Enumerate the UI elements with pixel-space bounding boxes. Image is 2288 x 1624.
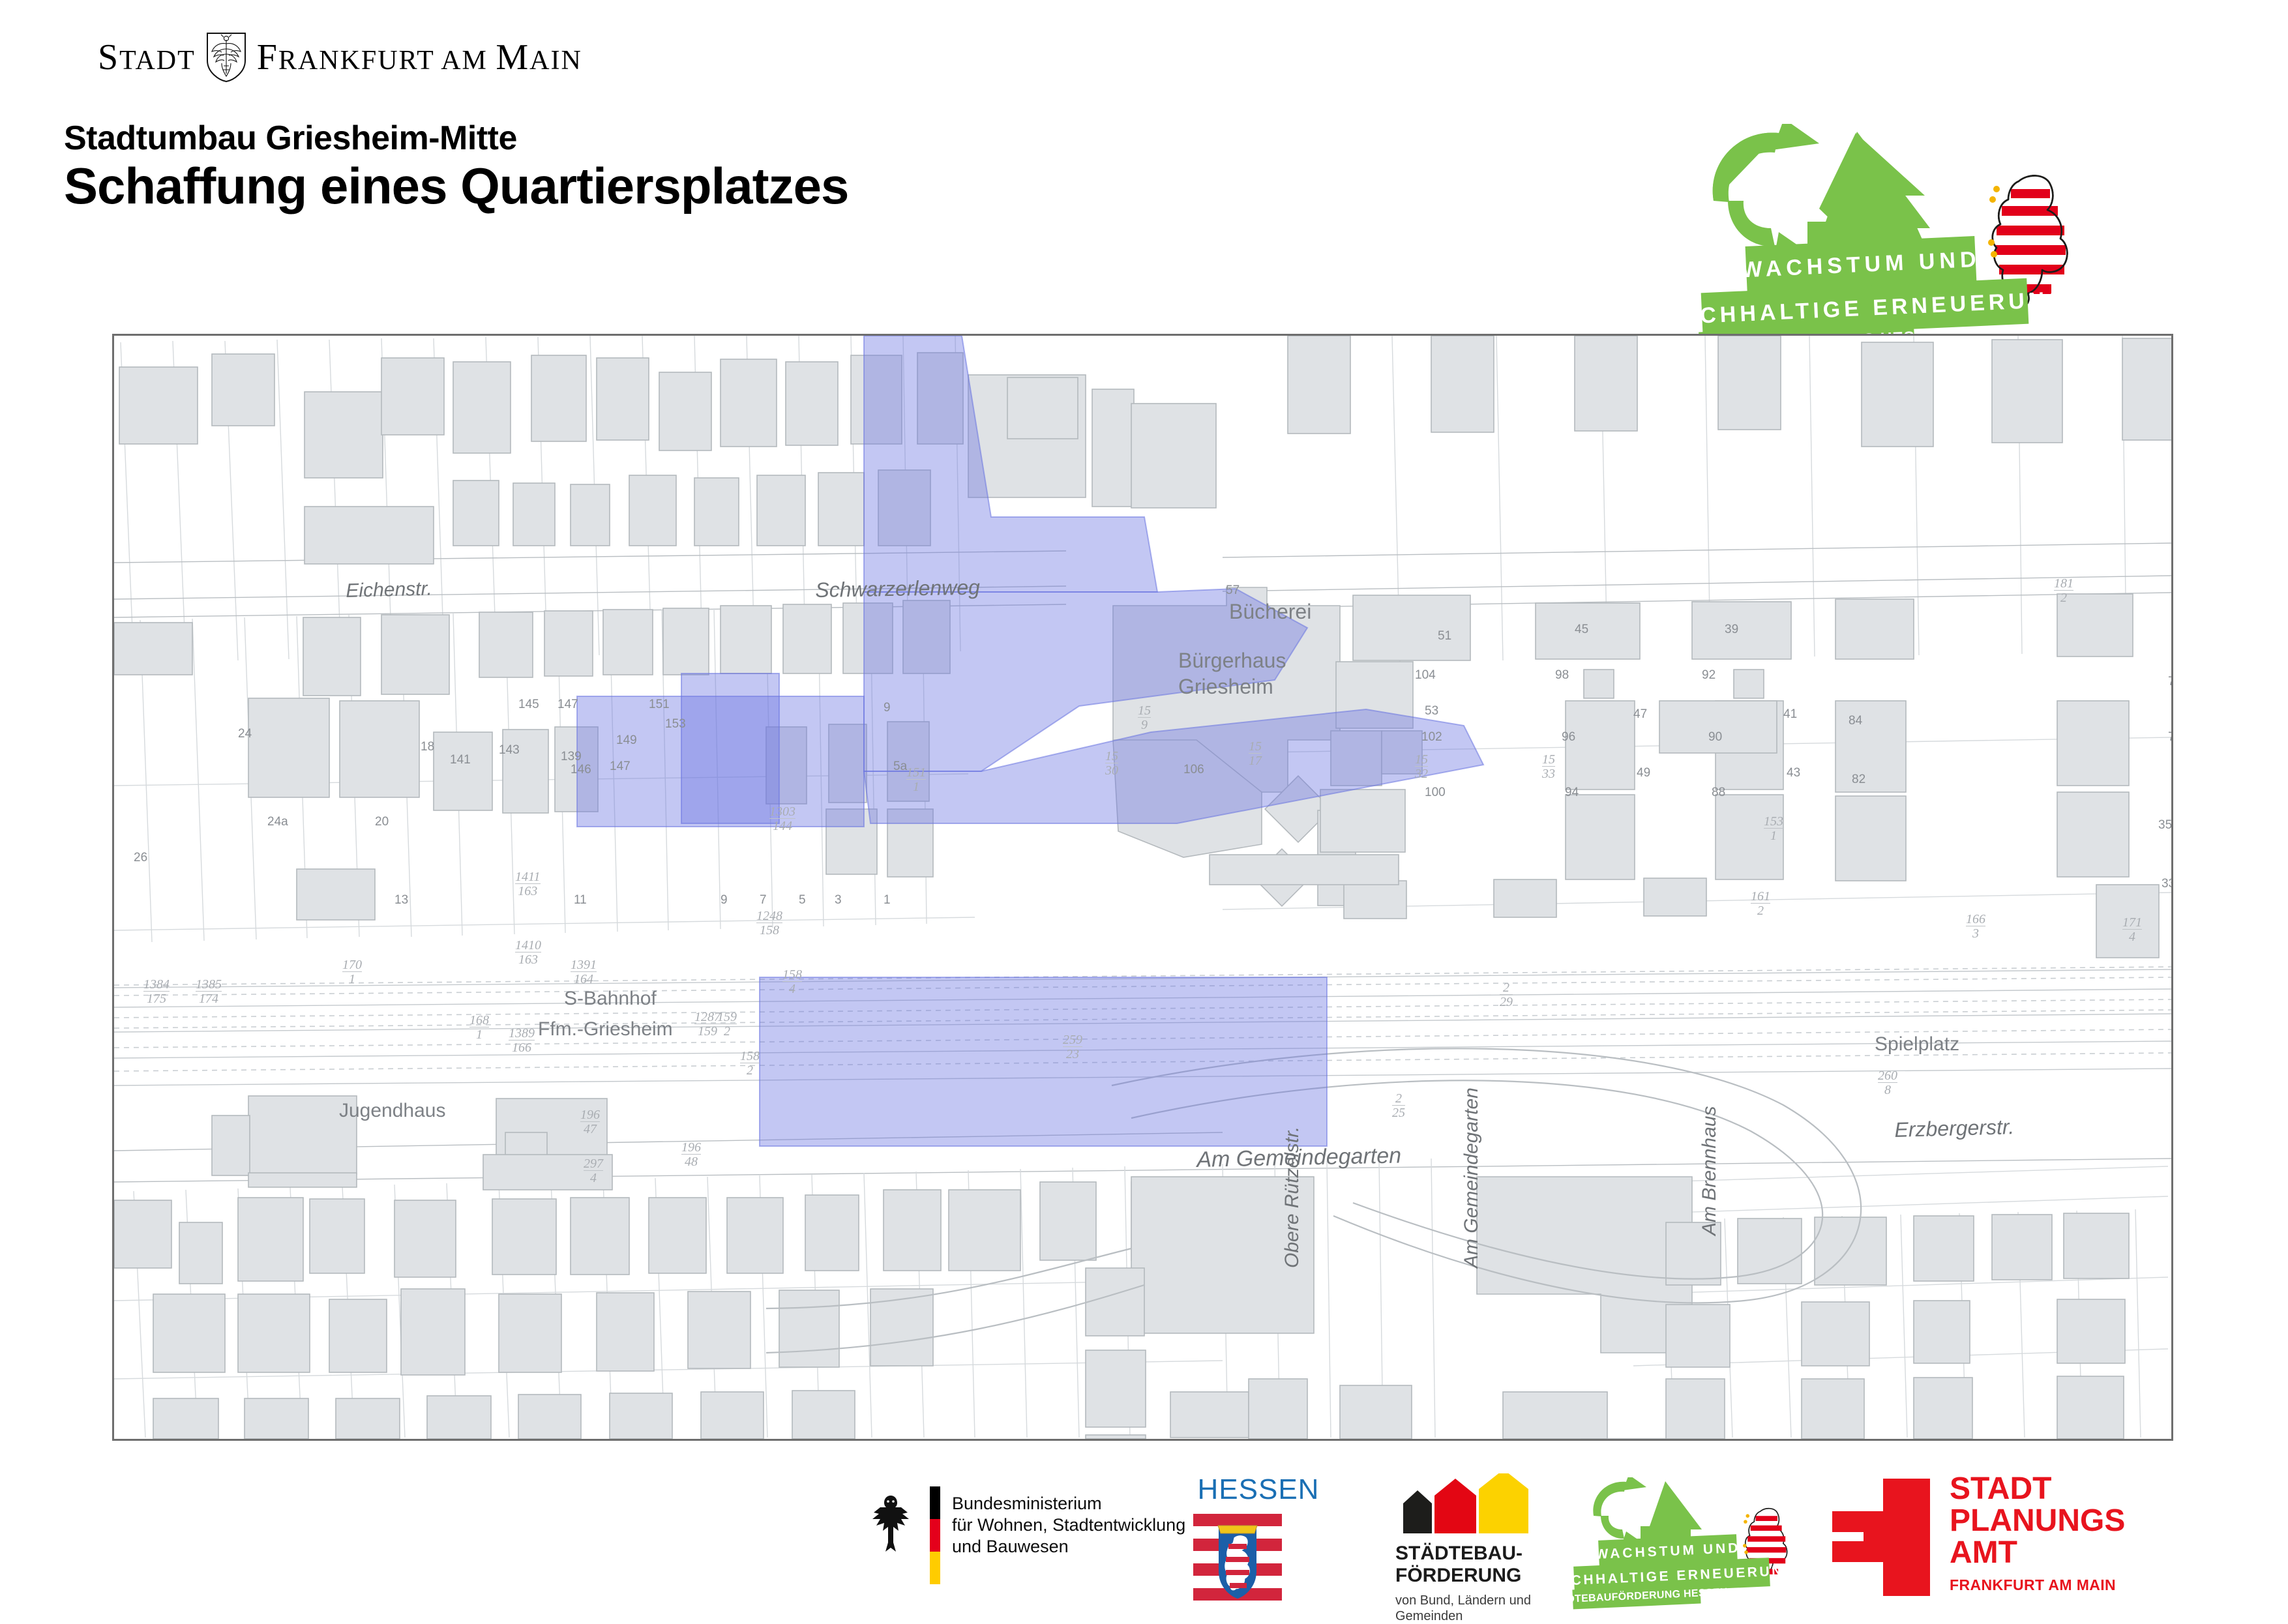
house-number: 92 bbox=[1702, 668, 1716, 683]
staedtebaufoerderung-logo: STÄDTEBAU- FÖRDERUNG von Bund, Ländern u… bbox=[1395, 1473, 1545, 1610]
parcel-number: 25923 bbox=[1063, 1033, 1082, 1061]
street-label-am-gemeindegarten: Am Gemeindegarten bbox=[1461, 1087, 1483, 1268]
house-number: 146 bbox=[571, 763, 591, 777]
house-number: 43 bbox=[1787, 766, 1800, 780]
spa-line1: STADT bbox=[1950, 1473, 2125, 1505]
parcel-number: 1663 bbox=[1966, 913, 1985, 940]
house-number: 151 bbox=[649, 698, 670, 712]
page-subtitle: Stadtumbau Griesheim-Mitte bbox=[64, 119, 517, 158]
house-number: 26 bbox=[134, 851, 147, 865]
parcel-number: 2974 bbox=[584, 1157, 603, 1185]
house-number: 24 bbox=[238, 727, 252, 741]
parcel-number: 1812 bbox=[2054, 577, 2073, 604]
house-number: 145 bbox=[518, 698, 539, 712]
poi-label-b-rgerhaus: Bürgerhaus bbox=[1178, 649, 1286, 673]
hessen-wordmark: HESSEN bbox=[1193, 1473, 1324, 1506]
house-number: 9 bbox=[884, 701, 891, 715]
house-number: 1 bbox=[884, 893, 891, 908]
page-title: Schaffung eines Quartiersplatzes bbox=[64, 156, 848, 216]
parcel-number: 1701 bbox=[342, 958, 362, 986]
house-number: 94 bbox=[1565, 786, 1579, 800]
house-number: 35 bbox=[2158, 818, 2172, 833]
city-logo-word-stadt: STADT bbox=[98, 37, 196, 78]
parcel-number: 1385174 bbox=[196, 978, 222, 1005]
house-number: 39 bbox=[1725, 623, 1738, 637]
highlight-south-platz bbox=[760, 977, 1327, 1146]
stadtplanungsamt-logo: STADT PLANUNGS AMT FRANKFURT AM MAIN bbox=[1832, 1473, 2139, 1604]
house-number: 98 bbox=[1555, 668, 1569, 683]
parcel-number: 1411163 bbox=[515, 870, 541, 898]
poi-label-spielplatz: Spielplatz bbox=[1875, 1033, 1959, 1056]
poi-label-jugendhaus: Jugendhaus bbox=[339, 1100, 445, 1122]
parcel-number: 1612 bbox=[1751, 890, 1770, 917]
poi-label-b-cherei: Bücherei bbox=[1229, 600, 1311, 624]
house-number: 104 bbox=[1415, 668, 1436, 683]
city-logo-word-frankfurt: FRANKFURT AM MAIN bbox=[257, 37, 582, 78]
house-number: 143 bbox=[499, 743, 520, 758]
staedtebau-title-line1: STÄDTEBAU- bbox=[1395, 1543, 1545, 1565]
house-number: 47 bbox=[1633, 707, 1647, 722]
parcel-number: 1391164 bbox=[571, 958, 597, 986]
house-number: 45 bbox=[1575, 623, 1588, 637]
parcel-number: 1531 bbox=[1764, 815, 1783, 842]
street-label-eichenstr: Eichenstr. bbox=[346, 578, 432, 602]
house-number: 96 bbox=[1562, 730, 1575, 745]
parcel-number: 1582 bbox=[740, 1050, 760, 1077]
house-number: 84 bbox=[1849, 714, 1862, 728]
house-number: 139 bbox=[561, 750, 582, 764]
house-number: 82 bbox=[1852, 773, 1865, 787]
house-number: 13 bbox=[394, 893, 408, 908]
house-number: 88 bbox=[1712, 786, 1725, 800]
hessen-flag-icon bbox=[1193, 1511, 1282, 1602]
house-number: 53 bbox=[1425, 704, 1438, 718]
house-number: 149 bbox=[616, 733, 637, 748]
parcel-number: 1714 bbox=[2122, 916, 2142, 943]
bmwsb-line1: Bundesministerium bbox=[952, 1493, 1185, 1514]
spa-line3: AMT bbox=[1950, 1537, 2125, 1569]
house-number: 153 bbox=[665, 717, 686, 731]
parcel-number: 19648 bbox=[681, 1141, 701, 1168]
parcel-number: 1530 bbox=[1105, 750, 1118, 777]
house-number: 51 bbox=[1438, 629, 1451, 643]
house-number: 7 bbox=[760, 893, 767, 908]
staedtebau-sub-line1: von Bund, Ländern und bbox=[1395, 1593, 1545, 1608]
house-number: 3 bbox=[835, 893, 842, 908]
house-number: 24a bbox=[267, 815, 288, 829]
house-number: 102 bbox=[1421, 730, 1442, 745]
poi-label-ffm-griesheim: Ffm.-Griesheim bbox=[538, 1018, 673, 1041]
house-number: 106 bbox=[1183, 763, 1204, 777]
map-vector-layer bbox=[114, 336, 2171, 1439]
cadastral-map[interactable]: Eichenstr.SchwarzerlenwegAm Gemeindegart… bbox=[112, 334, 2173, 1441]
spa-subtitle: FRANKFURT AM MAIN bbox=[1950, 1576, 2116, 1594]
parcel-number: 1410163 bbox=[515, 939, 541, 966]
house-number: 90 bbox=[1708, 730, 1722, 745]
parcel-number: 1303144 bbox=[769, 805, 795, 833]
staedtebau-title-line2: FÖRDERUNG bbox=[1395, 1565, 1545, 1587]
parcel-number: 1248158 bbox=[756, 909, 782, 937]
house-number: 5a bbox=[893, 760, 907, 774]
city-of-frankfurt-logo: STADT FRANKF bbox=[98, 31, 515, 83]
house-number: 11 bbox=[574, 893, 587, 908]
spa-line2: PLANUNGS bbox=[1950, 1505, 2125, 1537]
stadtplanungsamt-wordmark: STADT PLANUNGS AMT bbox=[1950, 1473, 2125, 1569]
three-houses-icon bbox=[1395, 1473, 1545, 1533]
house-number: 41 bbox=[1783, 707, 1797, 722]
parcel-number: 19647 bbox=[580, 1108, 600, 1136]
street-label-obere-r-tzelstr: Obere Rützelstr. bbox=[1281, 1127, 1303, 1268]
frankfurt-eagle-crest-icon bbox=[206, 32, 246, 83]
house-number: 141 bbox=[450, 753, 471, 767]
federal-eagle-icon bbox=[867, 1492, 914, 1557]
parcel-number: 1287159 bbox=[694, 1011, 721, 1038]
staedtebau-sub-line2: Gemeinden bbox=[1395, 1608, 1545, 1624]
house-number: 76 bbox=[2168, 730, 2173, 745]
bmwsb-logo: Bundesministerium für Wohnen, Stadtentwi… bbox=[867, 1480, 1232, 1578]
stadtplanungsamt-mark-icon bbox=[1832, 1479, 1930, 1596]
bmwsb-line3: und Bauwesen bbox=[952, 1536, 1185, 1558]
house-number: 20 bbox=[375, 815, 389, 829]
parcel-number: 1384175 bbox=[143, 978, 170, 1005]
page-header: STADT FRANKF bbox=[0, 0, 2288, 306]
page-footer: Bundesministerium für Wohnen, Stadtentwi… bbox=[0, 1460, 2288, 1617]
house-number: 5 bbox=[799, 893, 806, 908]
house-number: 78 bbox=[2168, 675, 2173, 689]
house-number: 57 bbox=[1226, 583, 1240, 598]
hessen-logo: HESSEN bbox=[1193, 1473, 1324, 1604]
poi-label-griesheim: Griesheim bbox=[1178, 675, 1273, 699]
parcel-number: 159 bbox=[1138, 704, 1151, 731]
house-number: 147 bbox=[557, 698, 578, 712]
parcel-number: 229 bbox=[1500, 981, 1513, 1009]
parcel-number: 225 bbox=[1392, 1092, 1405, 1119]
house-number: 100 bbox=[1425, 786, 1446, 800]
staedtebau-subtitle: von Bund, Ländern und Gemeinden bbox=[1395, 1593, 1545, 1624]
house-number: 18 bbox=[421, 740, 434, 754]
wachstum-erneuerung-logo-small: WACHSTUM UND NACHHALTIGE ERNEUERUNG STÄD… bbox=[1571, 1477, 1787, 1608]
parcel-number: 1517 bbox=[1249, 740, 1262, 767]
parcel-number: 1511 bbox=[906, 766, 926, 793]
street-label-erzbergerstr: Erzbergerstr. bbox=[1894, 1115, 2015, 1142]
poi-label-s-bahnhof: S-Bahnhof bbox=[564, 988, 657, 1010]
house-number: 147 bbox=[610, 760, 631, 774]
bmwsb-line2: für Wohnen, Stadtentwicklung bbox=[952, 1514, 1185, 1536]
parcel-number: 1533 bbox=[1542, 753, 1555, 780]
parcel-number: 1584 bbox=[782, 968, 802, 996]
german-flag-bar-icon bbox=[930, 1486, 940, 1584]
parcel-number: 1389166 bbox=[509, 1027, 535, 1054]
parcel-number: 1681 bbox=[469, 1014, 489, 1041]
house-number: 49 bbox=[1637, 766, 1650, 780]
parcel-number: 1532 bbox=[1415, 753, 1428, 780]
parcel-number: 2608 bbox=[1878, 1069, 1897, 1097]
street-label-schwarzerlenweg: Schwarzerlenweg bbox=[815, 576, 980, 602]
house-number: 9 bbox=[721, 893, 728, 908]
street-label-am-brennhaus: Am Brennhaus bbox=[1699, 1106, 1721, 1235]
bmwsb-text: Bundesministerium für Wohnen, Stadtentwi… bbox=[952, 1493, 1185, 1558]
staedtebau-title: STÄDTEBAU- FÖRDERUNG bbox=[1395, 1543, 1545, 1586]
house-number: 33 bbox=[2162, 877, 2173, 891]
